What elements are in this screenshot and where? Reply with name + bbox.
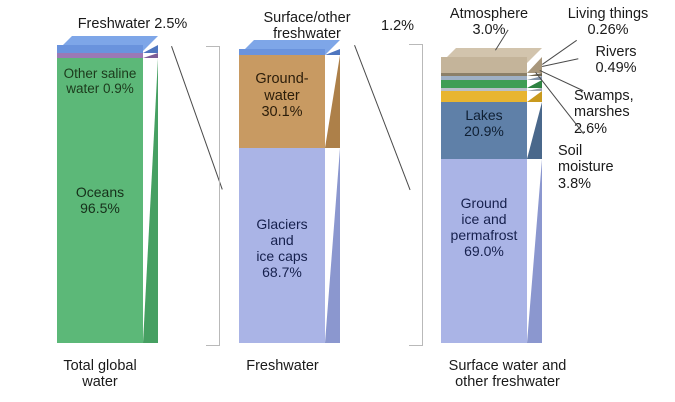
col1-segment-oceans xyxy=(57,58,143,343)
col1-segment-freshwater xyxy=(57,45,143,53)
col1-callout-freshwater: Freshwater 2.5% xyxy=(50,16,215,32)
col3-segment-ground-ice-permafrost xyxy=(441,159,527,343)
col3-caption: Surface water and other freshwater xyxy=(415,358,600,391)
bracket-freshwater xyxy=(206,46,220,346)
col3-segment-soil-moisture xyxy=(441,91,527,102)
col2-callout-surface-other-freshwater: Surface/other freshwater xyxy=(232,10,382,43)
col3-segment-swamps-marshes xyxy=(441,80,527,88)
bracket-surface-water xyxy=(409,44,423,346)
col2-caption: Freshwater xyxy=(225,358,340,374)
col1-caption: Total global water xyxy=(40,358,160,391)
col2-segment-glaciers xyxy=(239,148,325,343)
col3-callout-soil-moisture: Soil moisture 3.8% xyxy=(558,143,658,192)
col3-segment-atmosphere xyxy=(441,57,527,73)
col3-segment-lakes xyxy=(441,102,527,159)
water-distribution-chart: Other saline water 0.9% Oceans 96.5% Fre… xyxy=(0,0,675,402)
col2-segment-groundwater xyxy=(239,55,325,148)
col3-callout-atmosphere: Atmosphere 3.0% xyxy=(430,6,548,39)
col3-callout-rivers: Rivers 0.49% xyxy=(566,44,666,77)
col3-callout-swamps-marshes: Swamps, marshes 2.6% xyxy=(574,88,674,137)
col3-callout-living-things: Living things 0.26% xyxy=(548,6,668,39)
leader-line-col2-to-bracket2 xyxy=(354,45,410,190)
